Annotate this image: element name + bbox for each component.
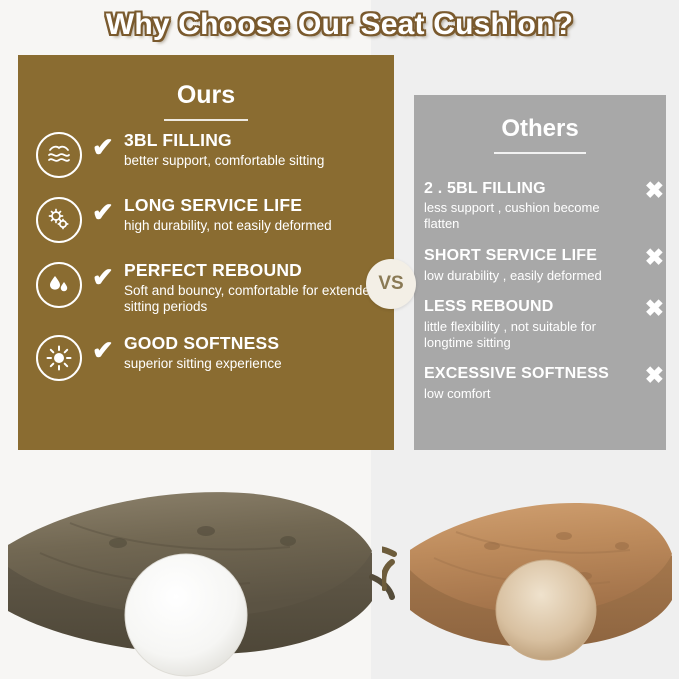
sun-burst-icon xyxy=(36,335,82,381)
page-title: Why Choose Our Seat Cushion? xyxy=(0,8,679,42)
others-feature-sub: less support , cushion become flatten xyxy=(424,200,634,232)
others-feature-row: 2 . 5BL FILLING less support , cushion b… xyxy=(424,180,664,232)
others-feature-title: LESS REBOUND xyxy=(424,298,634,316)
ours-feature-text: LONG SERVICE LIFE high durability, not e… xyxy=(122,195,394,234)
others-feature-list: 2 . 5BL FILLING less support , cushion b… xyxy=(424,180,664,417)
gears-icon xyxy=(36,197,82,243)
others-feature-sub: low comfort xyxy=(424,386,634,402)
others-feature-row: EXCESSIVE SOFTNESS low comfort ✖ xyxy=(424,365,664,401)
ours-feature-title: PERFECT REBOUND xyxy=(124,260,394,280)
ours-feature-title: LONG SERVICE LIFE xyxy=(124,195,394,215)
others-feature-title: 2 . 5BL FILLING xyxy=(424,180,634,198)
others-feature-row: SHORT SERVICE LIFE low durability , easi… xyxy=(424,247,664,283)
right-cushion-image xyxy=(382,450,679,679)
ours-feature-title: 3BL FILLING xyxy=(124,130,394,150)
infographic-canvas: Why Choose Our Seat Cushion? Ours ✔ 3BL … xyxy=(0,0,679,679)
others-feature-sub: low durability , easily deformed xyxy=(424,268,634,284)
check-icon: ✔ xyxy=(92,199,122,225)
others-feature-title: SHORT SERVICE LIFE xyxy=(424,247,634,265)
others-feature-sub: little flexibility , not suitable for lo… xyxy=(424,319,634,351)
ours-feature-row: ✔ LONG SERVICE LIFE high durability, not… xyxy=(18,195,394,243)
check-icon: ✔ xyxy=(92,264,122,290)
others-heading-underline xyxy=(494,152,586,154)
ours-feature-list: ✔ 3BL FILLING better support, comfortabl… xyxy=(18,130,394,398)
ours-feature-text: GOOD SOFTNESS superior sitting experienc… xyxy=(122,333,394,372)
ours-feature-sub: superior sitting experience xyxy=(124,356,394,372)
check-icon: ✔ xyxy=(92,134,122,160)
ours-feature-sub: better support, comfortable sitting xyxy=(124,153,394,169)
ours-feature-sub: high durability, not easily deformed xyxy=(124,218,394,234)
ours-feature-row: ✔ GOOD SOFTNESS superior sitting experie… xyxy=(18,333,394,381)
cross-icon: ✖ xyxy=(645,297,664,320)
ours-feature-title: GOOD SOFTNESS xyxy=(124,333,394,353)
water-drops-icon xyxy=(36,262,82,308)
cross-icon: ✖ xyxy=(645,364,664,387)
ours-feature-sub: Soft and bouncy, comfortable for extende… xyxy=(124,283,394,315)
left-cushion-image xyxy=(0,425,400,679)
others-feature-row: LESS REBOUND little flexibility , not su… xyxy=(424,298,664,350)
ours-feature-text: PERFECT REBOUND Soft and bouncy, comfort… xyxy=(122,260,394,316)
others-feature-title: EXCESSIVE SOFTNESS xyxy=(424,365,634,383)
wave-cushion-icon xyxy=(36,132,82,178)
others-heading: Others xyxy=(414,95,666,143)
ours-feature-row: ✔ 3BL FILLING better support, comfortabl… xyxy=(18,130,394,178)
ours-feature-row: ✔ PERFECT REBOUND Soft and bouncy, comfo… xyxy=(18,260,394,316)
ours-heading: Ours xyxy=(18,55,394,110)
check-icon: ✔ xyxy=(92,337,122,363)
ours-heading-underline xyxy=(164,119,248,121)
ours-feature-text: 3BL FILLING better support, comfortable … xyxy=(122,130,394,169)
vs-badge: VS xyxy=(366,259,416,309)
cross-icon: ✖ xyxy=(645,246,664,269)
cross-icon: ✖ xyxy=(645,179,664,202)
